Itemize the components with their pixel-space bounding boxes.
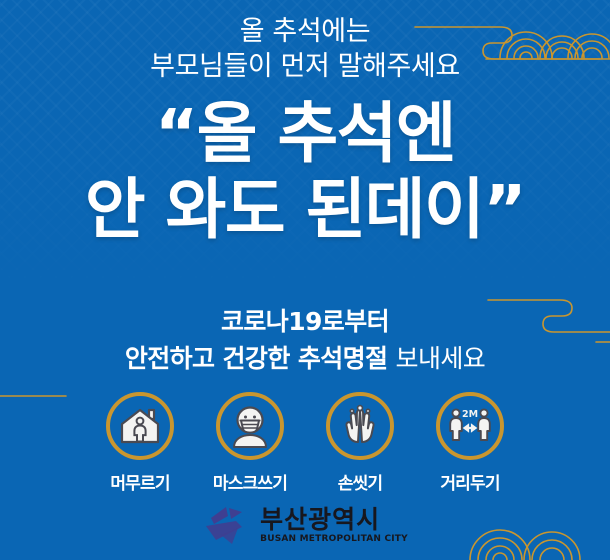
footer-logo: 부산광역시 BUSAN METROPOLITAN CITY [0,505,610,547]
subheadline-line-2-soft: 보내세요 [396,344,486,373]
social-distancing-icon: 2M [445,402,495,450]
stay-home-icon [116,402,164,450]
icon-ring-wear-mask [216,392,284,460]
wash-hands-icon [336,402,384,450]
icon-ring-distancing: 2M [436,392,504,460]
prevention-guidelines-row: 머무르기 마스크쓰기 [0,392,610,494]
campaign-poster: 올 추석에는 부모님들이 먼저 말해주세요 “올 추석엔 안 와도 된데이” 코… [0,0,610,560]
guideline-item-distancing: 2M 거리두기 [424,392,516,494]
busan-logo-text: 부산광역시 BUSAN METROPOLITAN CITY [260,507,408,545]
page-title: “올 추석엔 안 와도 된데이” [0,96,610,248]
subheadline: 코로나19로부터 안전하고 건강한 추석명절 보내세요 [0,305,610,376]
distance-label: 2M [462,409,478,420]
icon-ring-wash-hands [326,392,394,460]
guideline-label-distancing: 거리두기 [440,469,499,494]
guideline-label-wash-hands: 손씻기 [338,469,383,494]
guideline-item-stay-home: 머무르기 [94,392,186,494]
guideline-item-wear-mask: 마스크쓰기 [204,392,296,494]
guideline-item-wash-hands: 손씻기 [314,392,406,494]
busan-logo-mark-icon [202,505,250,547]
wear-mask-icon [226,402,274,450]
busan-logo-name-en: BUSAN METROPOLITAN CITY [260,535,408,544]
subheadline-line-1: 코로나19로부터 [0,305,610,340]
eyebrow-text: 올 추석에는 부모님들이 먼저 말해주세요 [0,14,610,84]
subheadline-line-2: 안전하고 건강한 추석명절 보내세요 [0,342,610,377]
icon-ring-stay-home [106,392,174,460]
guideline-label-stay-home: 머무르기 [110,469,169,494]
subheadline-line-2-bold: 안전하고 건강한 추석명절 [125,344,396,373]
guideline-label-wear-mask: 마스크쓰기 [213,469,287,494]
busan-logo-name-ko: 부산광역시 [260,507,408,533]
